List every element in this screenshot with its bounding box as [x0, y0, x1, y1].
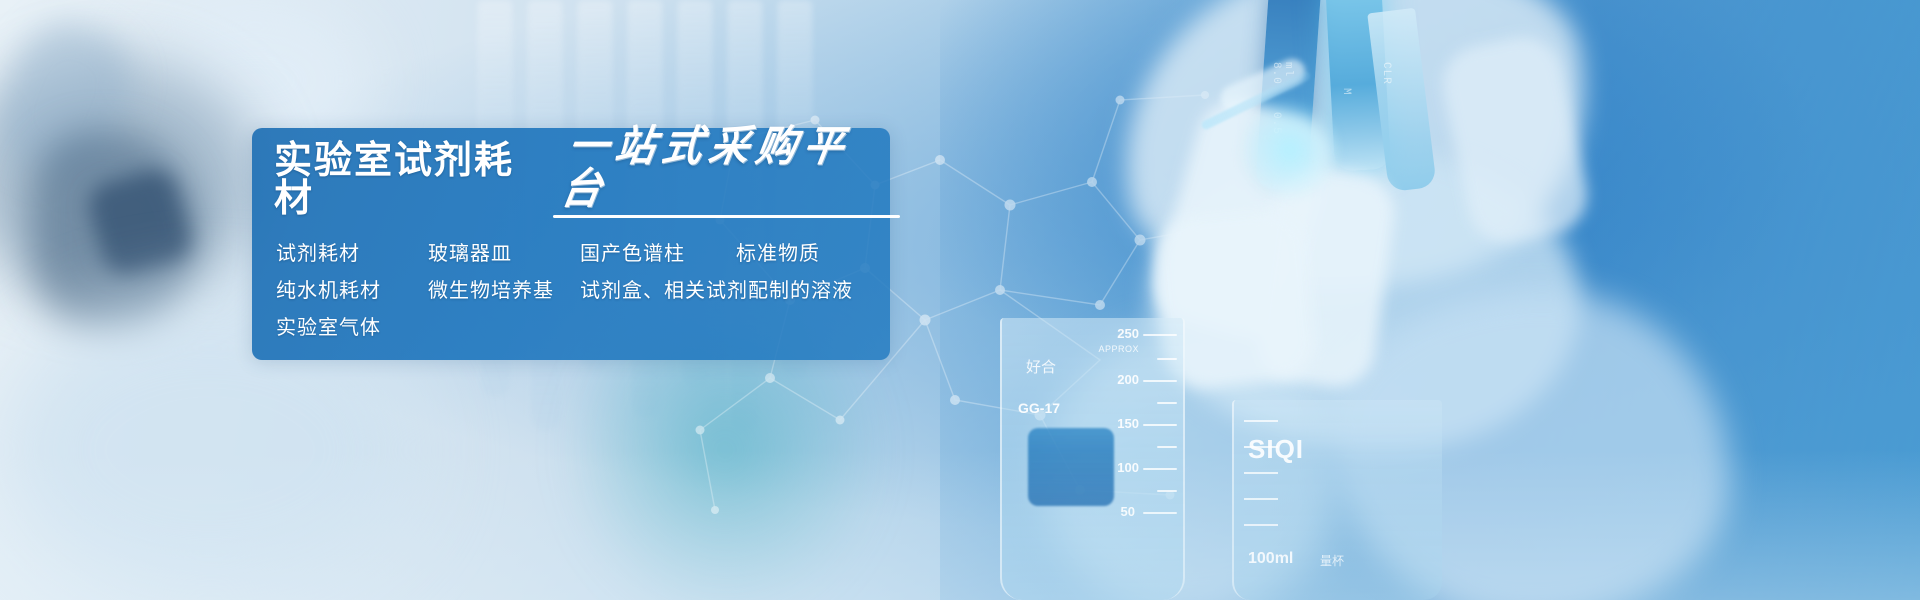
category-item-domestic-columns[interactable]: 国产色谱柱 [580, 244, 736, 264]
banner-stage: 8.0 ml 0.5 M CLR 250 APPROX 200 150 100 … [0, 0, 1920, 600]
category-item-kits-and-solutions[interactable]: 试剂盒、相关试剂配制的溶液 [580, 281, 853, 301]
category-item-lab-gases[interactable]: 实验室气体 [276, 318, 428, 338]
beaker-model-code: GG-17 [1018, 400, 1060, 416]
bottom-fade [0, 450, 1920, 600]
beaker-approx-label: APPROX [1098, 344, 1139, 354]
beaker-grad-150: 150 [1117, 416, 1139, 431]
category-list: 试剂耗材 玻璃器皿 国产色谱柱 标准物质 纯水机耗材 微生物培养基 试剂盒、相关… [272, 244, 890, 338]
beaker-grad-250: 250 [1117, 326, 1139, 341]
category-row: 试剂耗材 玻璃器皿 国产色谱柱 标准物质 [276, 244, 890, 264]
category-item-microbial-media[interactable]: 微生物培养基 [428, 281, 580, 301]
category-row: 实验室气体 [276, 318, 890, 338]
headline-brush-wrapper: 一站式采购平台 [565, 128, 890, 218]
headline-underline [553, 215, 900, 218]
vial-label-4: CLR [1380, 62, 1392, 85]
category-item-water-purifier-consumables[interactable]: 纯水机耗材 [276, 281, 428, 301]
beaker-grad-200: 200 [1117, 372, 1139, 387]
category-item-reference-materials[interactable]: 标准物质 [736, 244, 820, 264]
beaker-brand-cn: 好合 [1026, 356, 1056, 377]
category-item-reagent-consumables[interactable]: 试剂耗材 [276, 244, 428, 264]
category-row: 纯水机耗材 微生物培养基 试剂盒、相关试剂配制的溶液 [276, 281, 890, 301]
promo-panel: 实验室试剂耗材 一站式采购平台 试剂耗材 玻璃器皿 国产色谱柱 标准物质 纯水机… [252, 128, 890, 360]
headline: 实验室试剂耗材 一站式采购平台 [272, 156, 890, 218]
headline-main: 实验室试剂耗材 [274, 142, 551, 218]
light-flare [1235, 95, 1345, 205]
category-item-glassware[interactable]: 玻璃器皿 [428, 244, 580, 264]
headline-brush: 一站式采购平台 [558, 126, 897, 211]
